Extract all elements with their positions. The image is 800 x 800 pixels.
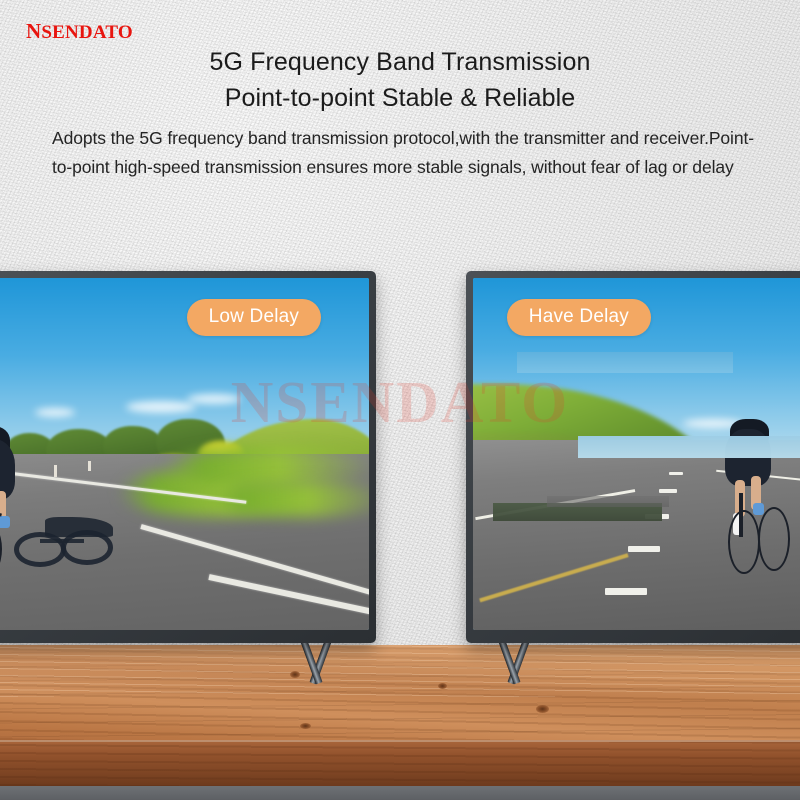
lane-dash bbox=[628, 546, 660, 552]
floor-strip bbox=[0, 786, 800, 800]
wood-knot bbox=[290, 671, 300, 678]
tv-left-screen: Low Delay bbox=[0, 278, 369, 630]
cyclist-shadow bbox=[12, 517, 141, 573]
lane-dash bbox=[645, 514, 669, 519]
headline-line-2: Point-to-point Stable & Reliable bbox=[0, 80, 800, 116]
shadow-wheel bbox=[14, 532, 66, 567]
wood-knot bbox=[536, 705, 549, 713]
cyclist-torn bbox=[723, 419, 800, 588]
tv-left-bezel: Low Delay bbox=[0, 271, 376, 643]
tv-right-screen: Have Delay bbox=[473, 278, 800, 630]
wood-knot bbox=[438, 683, 447, 689]
lane-dash bbox=[659, 489, 677, 493]
motion-blur-green bbox=[164, 447, 369, 486]
cyclist-shoe bbox=[0, 516, 10, 527]
bike-wheel bbox=[758, 507, 790, 571]
tv-right-bezel: Have Delay bbox=[466, 271, 800, 643]
body-paragraph: Adopts the 5G frequency band transmissio… bbox=[52, 124, 766, 182]
wood-knot bbox=[300, 723, 311, 729]
tv-right-have-delay: Have Delay bbox=[466, 271, 800, 643]
shadow-wheel bbox=[61, 530, 113, 565]
product-marketing-image: Nsendato 5G Frequency Band Transmission … bbox=[0, 0, 800, 800]
lane-dash bbox=[605, 588, 647, 595]
bike-wheel bbox=[728, 510, 760, 574]
tv-left-low-delay: Low Delay bbox=[0, 271, 376, 643]
bike-wheel bbox=[0, 520, 2, 578]
headline-block: 5G Frequency Band Transmission Point-to-… bbox=[0, 44, 800, 116]
cyclist-torso bbox=[725, 429, 771, 486]
lane-dash bbox=[669, 472, 683, 475]
cyclist-shoe bbox=[753, 503, 764, 515]
badge-low-delay[interactable]: Low Delay bbox=[187, 299, 322, 336]
table-front-edge bbox=[0, 740, 800, 786]
brand-logo: Nsendato bbox=[26, 14, 133, 44]
badge-have-delay[interactable]: Have Delay bbox=[507, 299, 651, 336]
shadow-frame bbox=[40, 539, 84, 544]
headline-line-1: 5G Frequency Band Transmission bbox=[0, 44, 800, 80]
